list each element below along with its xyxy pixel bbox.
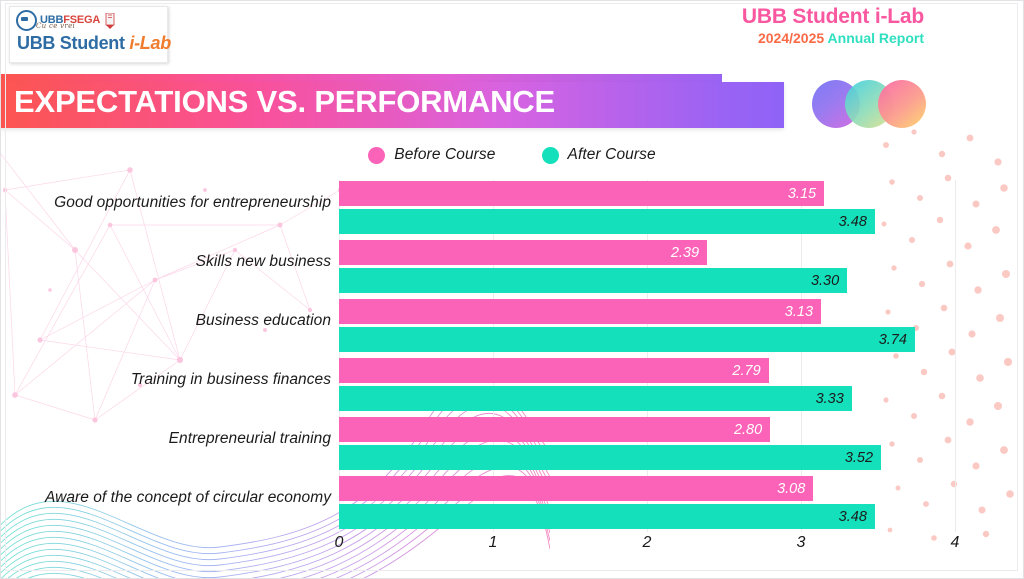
category-label: Good opportunities for entrepreneurship [0,194,331,212]
chart-legend: Before CourseAfter Course [0,146,1024,164]
plot-area: Good opportunities for entrepreneurship3… [0,180,1024,568]
bar-value-label: 3.48 [839,214,875,230]
bar-value-label: 2.79 [732,363,768,379]
bar-after[interactable]: 3.30 [339,268,847,293]
logo-main-prefix: UBB Student [17,33,129,53]
bar-value-label: 3.33 [816,391,852,407]
bar-value-label: 3.48 [839,509,875,525]
category-label: Entrepreneurial training [0,430,331,448]
bar-value-label: 3.15 [788,186,824,202]
logo-ilab-text: i-Lab [129,33,171,53]
slide: UBBFSEGA Cu ce vrei UBB Student i-Lab UB… [0,0,1024,579]
x-tick-label: 3 [797,534,806,552]
brand-title: UBB Student i-Lab [742,5,924,29]
report-header: UBB Student i-Lab 2024/2025 Annual Repor… [742,5,924,47]
bar-value-label: 3.30 [811,273,847,289]
legend-dot-icon [542,147,559,164]
ribbon-icon [103,13,117,29]
title-banner: EXPECTATIONS VS. PERFORMANCE [0,74,784,128]
report-label: Annual Report [828,30,924,46]
bar-value-label: 3.74 [879,332,915,348]
bar-value-label: 3.08 [777,481,813,497]
report-year: 2024/2025 [758,30,824,46]
category-label: Business education [0,312,331,330]
bar-after[interactable]: 3.52 [339,445,881,470]
legend-label: After Course [568,146,656,164]
legend-item-after[interactable]: After Course [542,146,656,164]
bar-row: Training in business finances2.793.33 [0,357,1024,416]
bar-before[interactable]: 2.39 [339,240,707,265]
bar-after[interactable]: 3.48 [339,209,875,234]
legend-dot-icon [368,147,385,164]
bar-after[interactable]: 3.48 [339,504,875,529]
report-subtitle: 2024/2025 Annual Report [742,30,924,47]
bar-value-label: 2.39 [671,245,707,261]
decorative-circle-pink [878,80,926,128]
bar-value-label: 2.80 [734,422,770,438]
bar-rows: Good opportunities for entrepreneurship3… [0,180,1024,534]
ubb-crest-emblem-icon [16,10,37,31]
bar-row: Good opportunities for entrepreneurship3… [0,180,1024,239]
bar-before[interactable]: 2.79 [339,358,769,383]
bar-after[interactable]: 3.33 [339,386,852,411]
logo-script-text: Cu ce vrei [36,22,75,30]
bar-row: Skills new business2.393.30 [0,239,1024,298]
bar-before[interactable]: 3.08 [339,476,813,501]
chart-area: Before CourseAfter Course Good opportuni… [0,138,1024,568]
x-tick-label: 4 [951,534,960,552]
bar-row: Entrepreneurial training2.803.52 [0,416,1024,475]
category-label: Training in business finances [0,371,331,389]
x-tick-label: 2 [643,534,652,552]
x-axis: 01234 [0,532,1024,566]
bar-before[interactable]: 3.13 [339,299,821,324]
decorative-circles [812,80,927,128]
bar-value-label: 3.13 [785,304,821,320]
bar-value-label: 3.52 [845,450,881,466]
x-tick-label: 1 [489,534,498,552]
bar-row: Business education3.133.74 [0,298,1024,357]
bar-after[interactable]: 3.74 [339,327,915,352]
logo-main-text: UBB Student i-Lab [17,33,171,54]
ubb-logo: UBBFSEGA Cu ce vrei UBB Student i-Lab [9,6,168,63]
x-tick-label: 0 [335,534,344,552]
bar-row: Aware of the concept of circular economy… [0,475,1024,534]
bar-before[interactable]: 2.80 [339,417,770,442]
category-label: Aware of the concept of circular economy [0,489,331,507]
legend-item-before[interactable]: Before Course [368,146,495,164]
category-label: Skills new business [0,253,331,271]
legend-label: Before Course [394,146,495,164]
page-title: EXPECTATIONS VS. PERFORMANCE [14,86,555,117]
bar-before[interactable]: 3.15 [339,181,824,206]
